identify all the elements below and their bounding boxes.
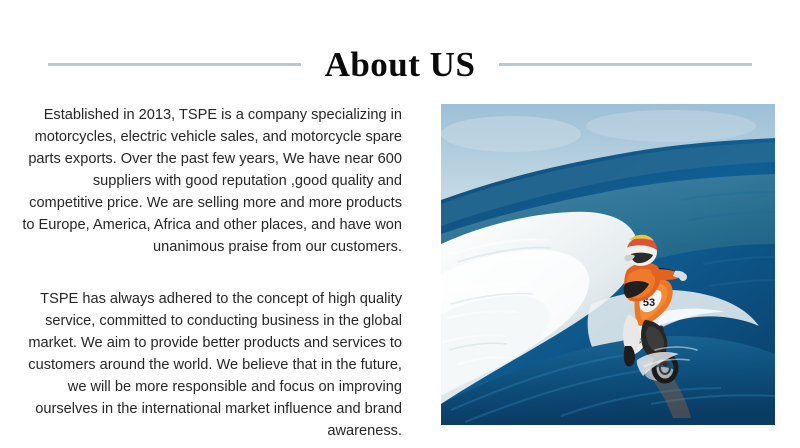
page-header: About US bbox=[0, 40, 800, 88]
page-title: About US bbox=[301, 47, 500, 82]
header-rule-right bbox=[499, 63, 752, 66]
about-paragraph-1: Established in 2013, TSPE is a company s… bbox=[20, 104, 402, 258]
about-text-column: Established in 2013, TSPE is a company s… bbox=[20, 104, 402, 442]
about-paragraph-2: TSPE has always adhered to the concept o… bbox=[20, 288, 402, 442]
header-rule-left bbox=[48, 63, 301, 66]
motocross-wave-illustration: 53 53 bbox=[441, 104, 775, 425]
about-photo: 53 53 bbox=[441, 104, 775, 425]
